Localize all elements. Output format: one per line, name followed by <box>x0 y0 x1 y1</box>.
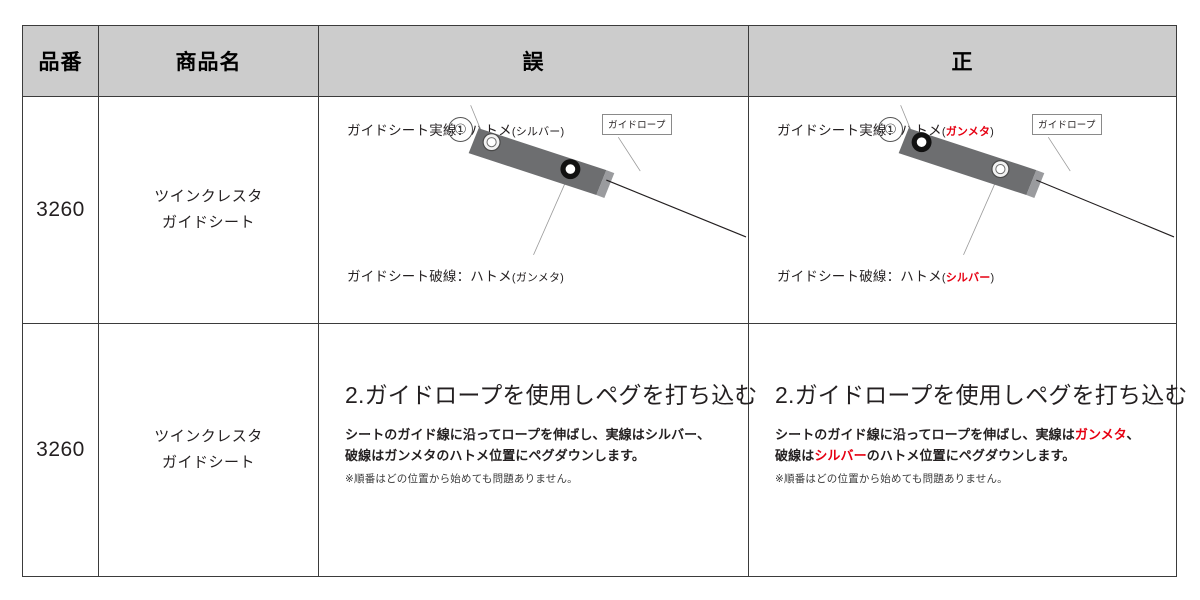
instruction-right-body-seg3: 破線は <box>775 448 814 463</box>
instruction-wrong: 2.ガイドロープを使用しペグを打ち込む シートのガイド線に沿ってロープを伸ばし、… <box>319 324 748 576</box>
cell-wrong-diagram: ガイドシート実線：ハトメ(シルバー) ガイドシート破線：ハトメ(ガンメタ) ガイ… <box>319 97 749 324</box>
instruction-wrong-note: ※順番はどの位置から始めても問題ありません。 <box>345 471 722 486</box>
instruction-right: 2.ガイドロープを使用しペグを打ち込む シートのガイド線に沿ってロープを伸ばし、… <box>749 324 1176 576</box>
diagram-wrong-graphic <box>319 97 748 323</box>
column-header-wrong-label: 誤 <box>523 51 545 74</box>
instruction-right-note: ※順番はどの位置から始めても問題ありません。 <box>775 471 1150 486</box>
instruction-right-body-value2: シルバー <box>814 448 866 463</box>
leader-line-rope <box>1048 137 1070 171</box>
product-name-line2: ガイドシート <box>162 214 255 231</box>
instruction-wrong-body-seg2: 、 <box>697 427 710 442</box>
cell-product-code: 3260 <box>23 97 99 324</box>
grommet-mid-silver <box>992 161 1009 178</box>
table-row: 3260 ツインクレスタ ガイドシート ガイドシート実線：ハトメ(シルバー) ガ… <box>23 97 1177 324</box>
column-header-code: 品番 <box>23 26 99 97</box>
cell-product-name: ツインクレスタ ガイドシート <box>99 324 319 577</box>
errata-table: 品番 商品名 誤 正 3260 ツインクレスタ ガイドシート <box>22 25 1177 577</box>
cell-right-text: 2.ガイドロープを使用しペグを打ち込む シートのガイド線に沿ってロープを伸ばし、… <box>749 324 1177 577</box>
leader-line-rope <box>618 137 640 171</box>
grommet-top-silver <box>483 134 500 151</box>
instruction-wrong-body-value2: ガンメタ <box>384 448 436 463</box>
instruction-right-body: シートのガイド線に沿ってロープを伸ばし、実線はガンメタ、破線はシルバーのハトメ位… <box>775 424 1150 467</box>
cell-product-code: 3260 <box>23 324 99 577</box>
instruction-wrong-body-seg3: 破線は <box>345 448 384 463</box>
table-header-row: 品番 商品名 誤 正 <box>23 26 1177 97</box>
instruction-wrong-heading: 2.ガイドロープを使用しペグを打ち込む <box>345 376 722 410</box>
instruction-right-body-seg4: のハトメ位置にペグダウンします。 <box>867 448 1076 463</box>
instruction-right-body-seg2: 、 <box>1127 427 1140 442</box>
column-header-right: 正 <box>749 26 1177 97</box>
diagram-right: ガイドシート実線：ハトメ(ガンメタ) ガイドシート破線：ハトメ(シルバー) ガイ… <box>749 97 1176 323</box>
guide-rope-line <box>606 180 746 237</box>
product-name-line1: ツインクレスタ <box>154 188 263 205</box>
cell-right-diagram: ガイドシート実線：ハトメ(ガンメタ) ガイドシート破線：ハトメ(シルバー) ガイ… <box>749 97 1177 324</box>
instruction-right-body-value1: ガンメタ <box>1075 427 1127 442</box>
table-row: 3260 ツインクレスタ ガイドシート 2.ガイドロープを使用しペグを打ち込む … <box>23 324 1177 577</box>
cell-wrong-text: 2.ガイドロープを使用しペグを打ち込む シートのガイド線に沿ってロープを伸ばし、… <box>319 324 749 577</box>
column-header-wrong: 誤 <box>319 26 749 97</box>
instruction-wrong-body-value1: シルバー <box>645 427 697 442</box>
instruction-wrong-body-seg1: シートのガイド線に沿ってロープを伸ばし、実線は <box>345 427 645 442</box>
cell-product-name: ツインクレスタ ガイドシート <box>99 97 319 324</box>
column-header-code-label: 品番 <box>39 51 83 74</box>
column-header-right-label: 正 <box>952 51 974 74</box>
grommet-top-gunmetal <box>912 132 932 152</box>
column-header-name: 商品名 <box>99 26 319 97</box>
instruction-wrong-body-seg4: のハトメ位置にペグダウンします。 <box>436 448 645 463</box>
product-name-line1: ツインクレスタ <box>154 428 263 445</box>
product-name-line2: ガイドシート <box>162 454 255 471</box>
instruction-wrong-body: シートのガイド線に沿ってロープを伸ばし、実線はシルバー、破線はガンメタのハトメ位… <box>345 424 722 467</box>
instruction-right-body-seg1: シートのガイド線に沿ってロープを伸ばし、実線は <box>775 427 1075 442</box>
guide-rope-line <box>1036 180 1174 237</box>
diagram-wrong: ガイドシート実線：ハトメ(シルバー) ガイドシート破線：ハトメ(ガンメタ) ガイ… <box>319 97 748 323</box>
errata-sheet: 品番 商品名 誤 正 3260 ツインクレスタ ガイドシート <box>0 0 1200 600</box>
instruction-right-heading: 2.ガイドロープを使用しペグを打ち込む <box>775 376 1150 410</box>
grommet-mid-gunmetal <box>560 159 580 179</box>
diagram-right-graphic <box>749 97 1176 323</box>
column-header-name-label: 商品名 <box>176 51 242 74</box>
